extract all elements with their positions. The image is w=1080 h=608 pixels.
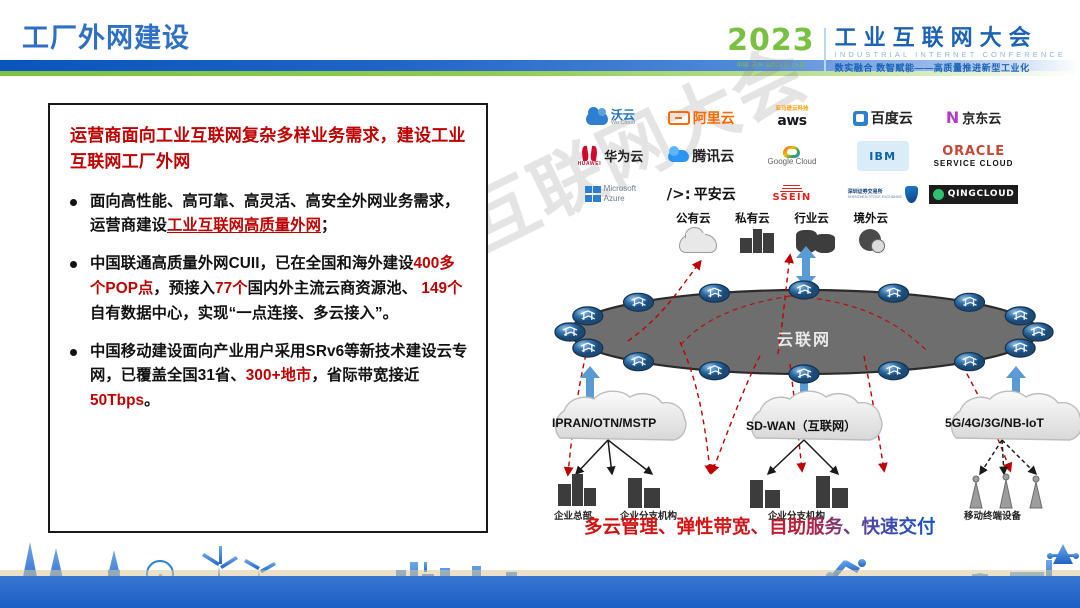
vendor-name: QINGCLOUD	[948, 189, 1015, 199]
conference-year: 2023	[727, 26, 815, 56]
mobile-terminal-icons	[970, 474, 1042, 508]
router-node	[573, 307, 603, 325]
conference-tagline: 数实融合 数智赋能——高质量推进新型工业化	[835, 61, 1066, 74]
router-node	[573, 339, 603, 357]
vendor-logo-wo-cloud: 沃云 Wo Cloud	[566, 100, 655, 136]
bullet-item: 中国联通高质量外网CUII，已在全国和海外建设400多个POP点，预接入77个国…	[68, 252, 470, 326]
access-cloud-label-5g: 5G/4G/3G/NB-IoT	[945, 416, 1044, 430]
tencent-cloud-icon	[668, 150, 689, 162]
vendor-logo-google-cloud: Google Cloud	[748, 138, 837, 174]
vendor-name: 百度云	[871, 111, 913, 125]
ssein-icon	[780, 185, 803, 193]
vendor-name: Google Cloud	[768, 158, 817, 166]
vendor-name: 华为云	[604, 150, 643, 163]
ibm-icon: IBM	[857, 141, 909, 171]
conference-logo-divider	[824, 28, 826, 72]
conference-name-cn: 工业互联网大会	[835, 26, 1066, 49]
router-node	[1005, 339, 1035, 357]
bullet-item: 中国移动建设面向产业用户采用SRv6等新技术建设云专网，已覆盖全国31省、300…	[68, 340, 470, 414]
vendor-name: 京东云	[962, 112, 1001, 125]
network-diagram: 云联网 IPRAN/OTN/MSTP SD-WAN（互联网） 5G/4G/3G/…	[528, 236, 1080, 514]
cloud-type-label-public: 公有云	[676, 210, 711, 226]
router-node	[789, 281, 819, 299]
router-node	[1005, 307, 1035, 325]
router-node	[700, 284, 730, 302]
vendor-logo-tencent-cloud: 腾讯云	[657, 138, 746, 174]
vendor-subtitle: HUAWEI	[578, 161, 602, 167]
vendor-name: aws	[777, 113, 806, 129]
content-textbox: 运营商面向工业互联网复杂多样业务需求，建设工业互联网工厂外网 面向高性能、高可靠…	[48, 103, 488, 533]
router-node	[879, 284, 909, 302]
bullet-text-run: 工业互联网高质量外网	[167, 217, 321, 234]
textbox-heading: 运营商面向工业互联网复杂多样业务需求，建设工业互联网工厂外网	[70, 123, 470, 176]
conference-logo: 2023 中国·苏州 8月14日-15日 工业互联网大会 INDUSTRIAL …	[727, 26, 1066, 74]
router-node	[789, 365, 819, 383]
router-node	[1023, 323, 1053, 341]
pingan-cloud-icon: />:	[667, 187, 691, 202]
bullet-text-run: ，省际带宽接近	[311, 367, 419, 384]
city-skyline-silhouette	[0, 530, 1080, 608]
bullet-text-run: 149个	[421, 280, 462, 297]
slide-root: 工厂外网建设 2023 中国·苏州 8月14日-15日 工业互联网大会 INDU…	[0, 0, 1080, 608]
cloud-type-label-overseas: 境外云	[853, 210, 888, 226]
router-node	[955, 293, 985, 311]
vendor-subtitle: Azure	[604, 194, 625, 204]
cloud-type-labels: 公有云 私有云 行业云 境外云	[676, 210, 888, 226]
cloud-type-label-private: 私有云	[735, 210, 770, 226]
access-cloud-label-sdwan: SD-WAN（互联网）	[746, 416, 856, 434]
vendor-logo-huawei-cloud: HUAWEI 华为云	[566, 138, 655, 174]
bottom-decorative-band	[0, 530, 1080, 608]
vendor-logo-aliyun: 阿里云	[657, 100, 746, 136]
szse-shield-icon	[905, 186, 918, 203]
bullet-text-run: ；	[321, 217, 336, 234]
vendor-name: IBM	[869, 150, 896, 163]
vendor-name: 腾讯云	[692, 149, 734, 163]
wo-cloud-icon	[586, 112, 608, 125]
vendor-logo-jd-cloud: N 京东云	[929, 100, 1018, 136]
azure-icon	[585, 186, 601, 202]
cloud-vendor-logo-grid: 沃云 Wo Cloud 阿里云 亚马逊云科技 aws 百度云	[566, 100, 1018, 212]
vendor-name: 平安云	[694, 187, 736, 201]
vendor-logo-ibm: IBM	[838, 138, 927, 174]
router-node	[624, 293, 654, 311]
bullet-text-run: 国内外主流云商资源池、	[248, 280, 422, 297]
site-label-mobile: 移动终端设备	[964, 508, 1021, 522]
router-node	[624, 353, 654, 371]
huawei-icon	[581, 146, 598, 161]
conference-date: 中国·苏州 8月14日-15日	[736, 60, 805, 69]
google-cloud-icon	[783, 146, 800, 158]
conference-logo-text-block: 工业互联网大会 INDUSTRIAL INTERNET CONFERENCE 数…	[835, 26, 1066, 74]
vendor-name: SSEIN	[773, 192, 812, 203]
vendor-logo-qingcloud: QINGCLOUD	[929, 176, 1018, 212]
access-to-terminal-links	[980, 440, 1036, 474]
bullet-list: 面向高性能、高可靠、高灵活、高安全外网业务需求，运营商建设工业互联网高质量外网；…	[68, 190, 470, 414]
vendor-logo-oracle: ORACLE SERVICE CLOUD	[929, 138, 1018, 174]
conference-name-en: INDUSTRIAL INTERNET CONFERENCE	[835, 50, 1066, 59]
vendor-name: ORACLE	[942, 144, 1005, 159]
conference-logo-year-block: 2023 中国·苏州 8月14日-15日	[727, 26, 824, 69]
bullet-text-run: 中国联通高质量外网CUII，已在全国和海外建设	[90, 255, 414, 272]
router-node	[555, 323, 585, 341]
aliyun-icon	[668, 111, 690, 125]
router-node	[955, 353, 985, 371]
network-diagram-svg	[528, 236, 1080, 514]
cloud-interconnect-label: 云联网	[777, 326, 831, 350]
bullet-text-run: 77个	[215, 280, 248, 297]
bullet-text-run: 50Tbps	[90, 392, 144, 409]
vendor-subtitle: SERVICE CLOUD	[934, 159, 1014, 168]
vendor-logo-baidu-cloud: 百度云	[838, 100, 927, 136]
page-title: 工厂外网建设	[22, 16, 190, 55]
vendor-subtitle: Wo Cloud	[611, 121, 635, 127]
vendor-subtitle: SHENZHEN STOCK EXCHANGE	[848, 195, 902, 199]
cloud-type-label-industry: 行业云	[794, 210, 829, 226]
vendor-logo-aws: 亚马逊云科技 aws	[748, 100, 837, 136]
vendor-logo-ssein: SSEIN	[748, 176, 837, 212]
qingcloud-icon	[933, 189, 944, 200]
baidu-cloud-icon	[853, 111, 868, 126]
jd-cloud-icon: N	[946, 110, 959, 126]
skyline-water	[0, 570, 1080, 608]
enterprise-building-icons	[558, 474, 848, 508]
vendor-logo-szse: 深圳证券交易所 SHENZHEN STOCK EXCHANGE	[838, 176, 927, 212]
bullet-text-run: 300+地市	[246, 367, 312, 384]
bullet-text-run: ，预接入	[153, 280, 215, 297]
access-to-site-links	[576, 440, 838, 474]
vendor-name: 阿里云	[693, 111, 735, 125]
vendor-name: Microsoft	[604, 184, 636, 194]
vendor-logo-pingan-cloud: />: 平安云	[657, 176, 746, 212]
router-node	[879, 362, 909, 380]
bullet-item: 面向高性能、高可靠、高灵活、高安全外网业务需求，运营商建设工业互联网高质量外网；	[68, 190, 470, 240]
bullet-text-run: 。	[144, 392, 159, 409]
router-node	[700, 362, 730, 380]
vendor-logo-azure: Microsoft Azure	[566, 176, 655, 212]
access-cloud-label-ipran: IPRAN/OTN/MSTP	[552, 416, 656, 430]
bullet-text-run: 自有数据中心，实现“一点连接、多云接入”。	[90, 305, 398, 322]
